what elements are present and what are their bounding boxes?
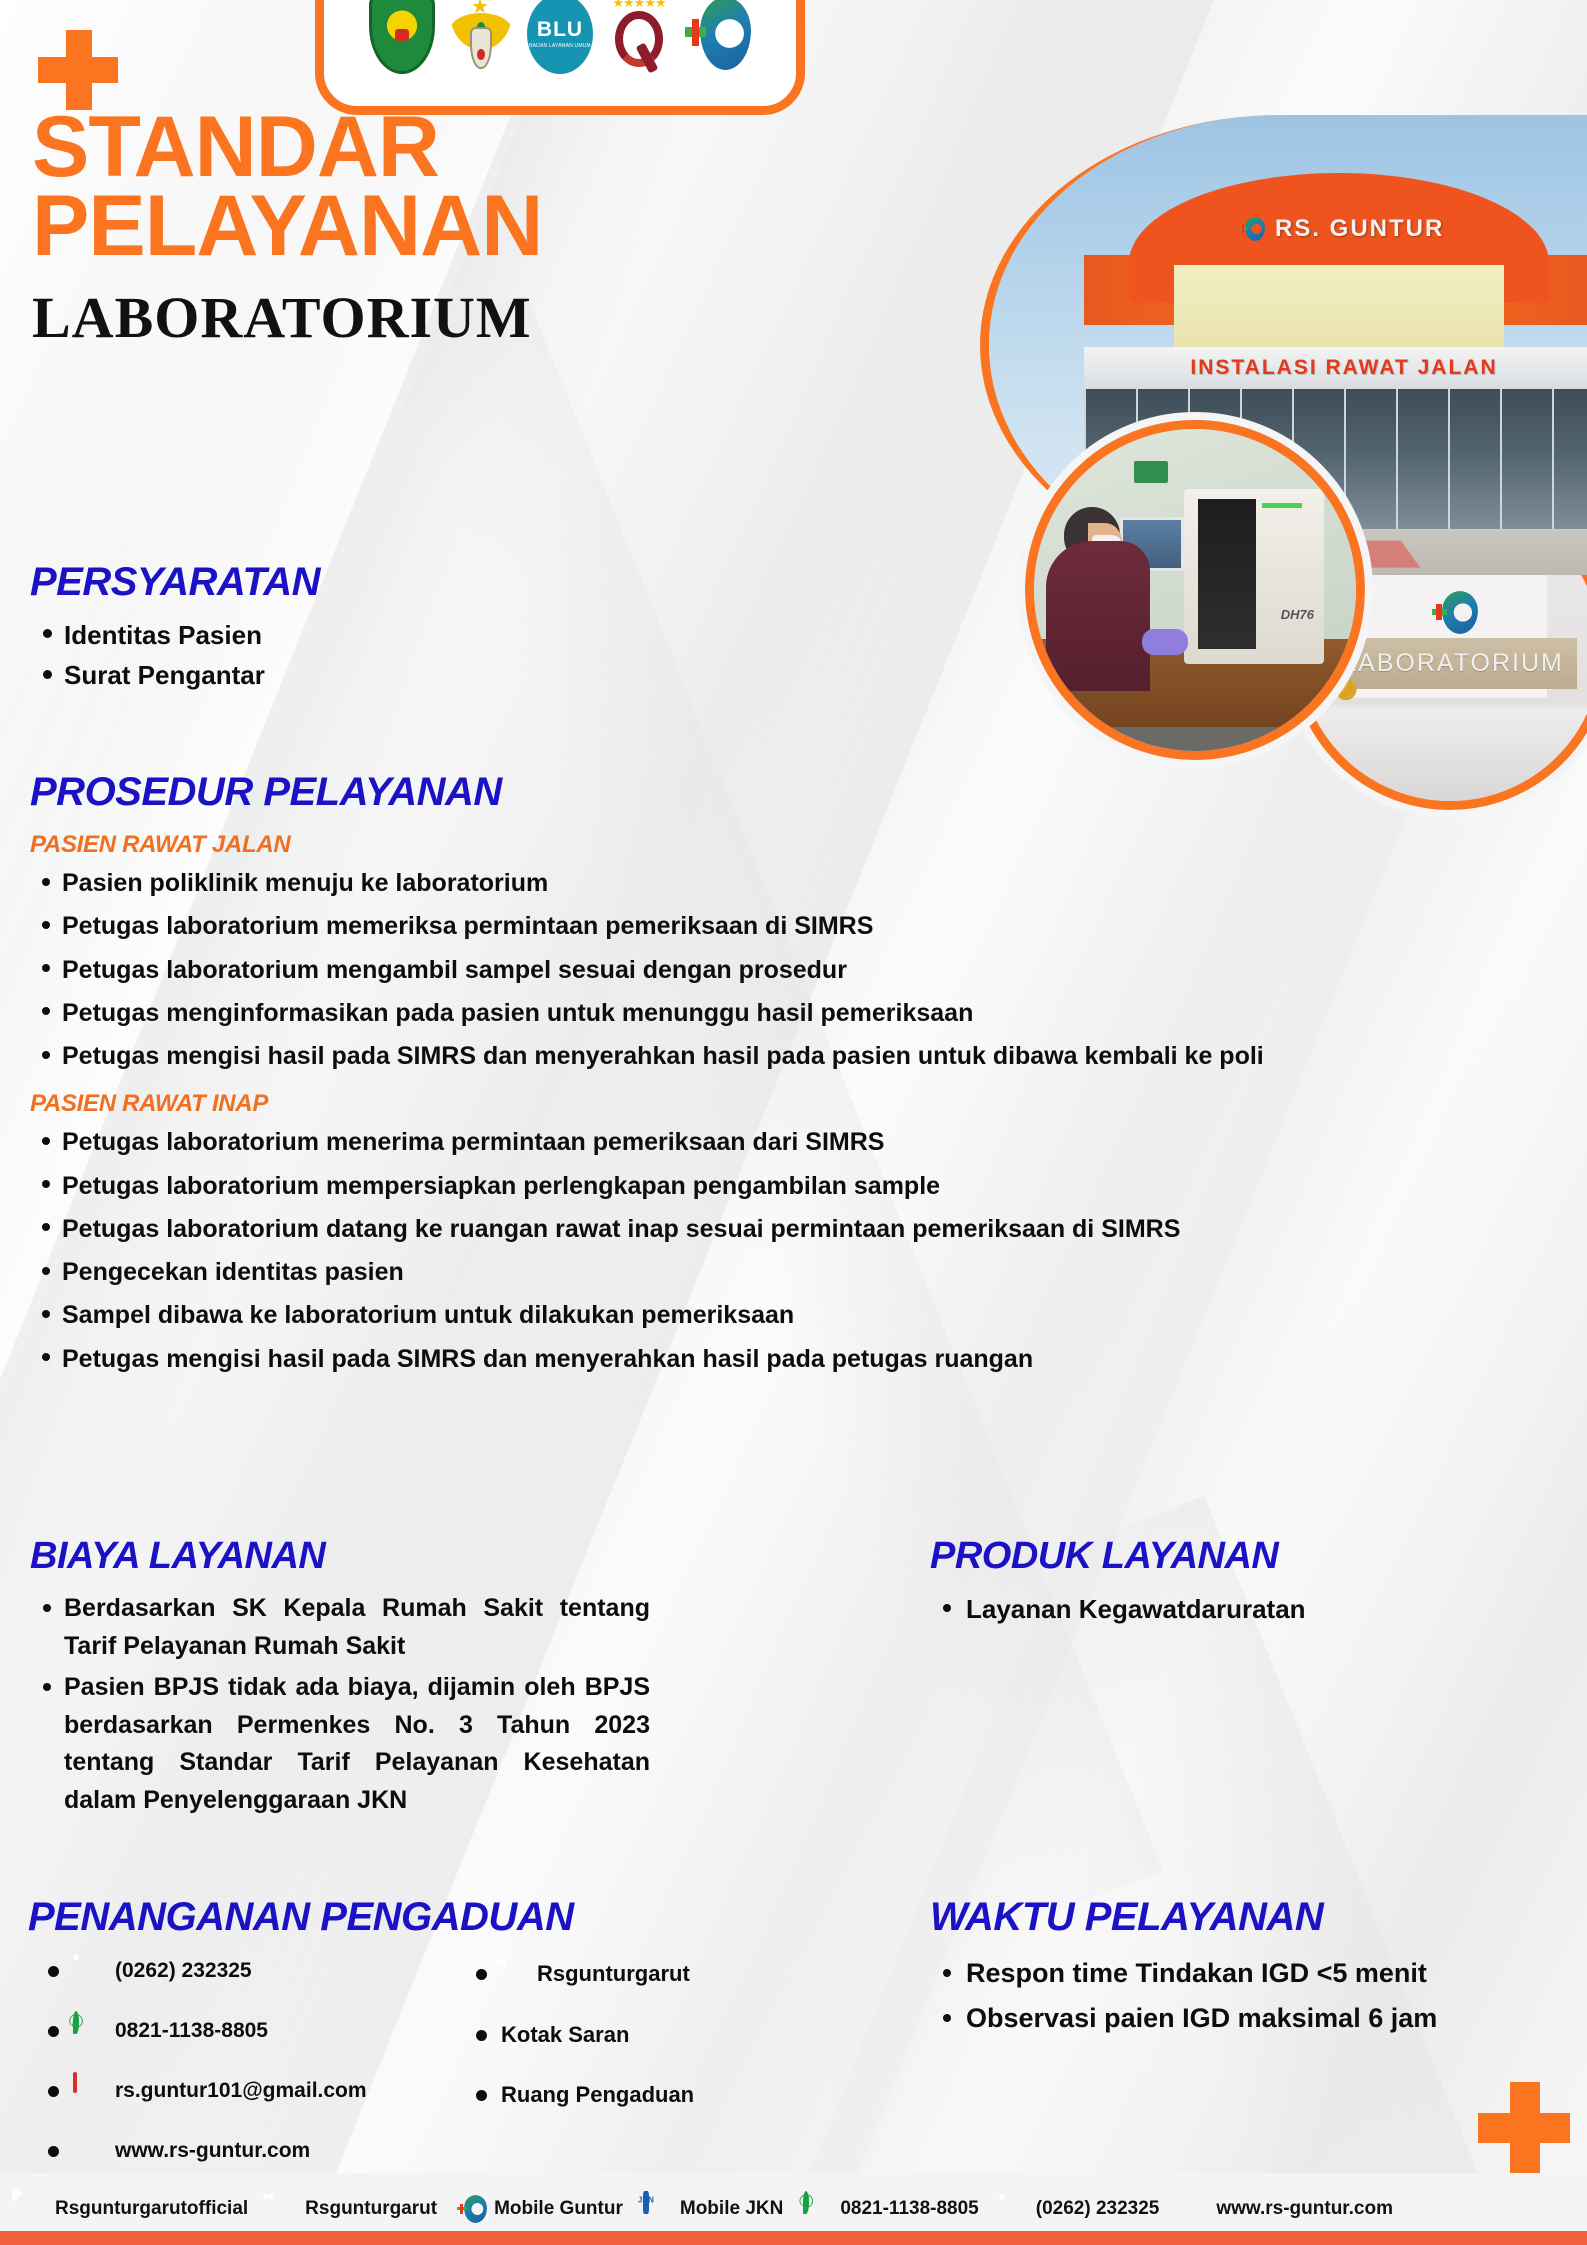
subject-title: LABORATORIUM (32, 284, 542, 351)
pengaduan-contact-column-right: Rsgunturgarut Kotak Saran Ruang Pengadua… (470, 1954, 870, 2168)
list-item: Petugas mengisi hasil pada SIMRS dan men… (30, 1038, 1520, 1074)
telephone-icon (73, 1954, 107, 1988)
list-item: Petugas laboratorium datang ke ruangan r… (30, 1211, 1530, 1247)
guntur-logo-icon (457, 2194, 487, 2224)
list-item: Petugas mengisi hasil pada SIMRS dan men… (30, 1341, 1530, 1377)
section-persyaratan: PERSYARATAN Identitas Pasien Surat Penga… (30, 560, 670, 696)
bullet-dot (476, 2030, 487, 2041)
footer-mobile-guntur[interactable]: Mobile Guntur (457, 2194, 623, 2224)
whatsapp-icon (803, 2194, 833, 2224)
section-produk-layanan: PRODUK LAYANAN Layanan Kegawatdaruratan (930, 1535, 1530, 1629)
bullet-dot (48, 2146, 59, 2157)
section-penanganan-pengaduan: PENANGANAN PENGADUAN (0262) 232325 0821-… (28, 1895, 928, 2168)
footer-mobile-guntur-text: Mobile Guntur (494, 2198, 623, 2220)
footer-instagram-text: Rsgunturgarut (305, 2198, 437, 2220)
prosedur-heading: PROSEDUR PELAYANAN (30, 770, 1560, 815)
waktu-heading: WAKTU PELAYANAN (930, 1895, 1540, 1940)
produk-list: Layanan Kegawatdaruratan (930, 1590, 1530, 1629)
biaya-heading: BIAYA LAYANAN (30, 1535, 650, 1578)
cross-bar-horizontal (1478, 2113, 1570, 2143)
contact-instagram[interactable]: Rsgunturgarut (476, 1960, 870, 1988)
telephone-icon (999, 2194, 1029, 2224)
poster-canvas: BLU BADAN LAYANAN UMUM ★★★★★ STANDAR (0, 0, 1587, 2245)
list-item: Identitas Pasien (30, 615, 670, 655)
building-sign-text: RS. GUNTUR (1275, 215, 1444, 243)
mobile-jkn-icon (643, 2194, 673, 2224)
medical-cross-icon (38, 30, 118, 110)
prosedur-rawat-jalan-list: Pasien poliklinik menuju ke laboratorium… (30, 865, 1520, 1074)
contact-telephone-text: (0262) 232325 (115, 1959, 252, 1983)
institution-logo-strip: BLU BADAN LAYANAN UMUM ★★★★★ (315, 0, 805, 115)
contact-whatsapp[interactable]: 0821-1138-8805 (48, 2014, 448, 2048)
bullet-dot (48, 2026, 59, 2037)
footer-website-text: www.rs-guntur.com (1216, 2198, 1393, 2220)
blu-logo-sublabel: BADAN LAYANAN UMUM (529, 43, 591, 49)
instagram-icon (268, 2194, 298, 2224)
cross-bar-horizontal (38, 57, 118, 83)
list-item: Layanan Kegawatdaruratan (930, 1590, 1530, 1629)
pengaduan-contact-column-left: (0262) 232325 0821-1138-8805 rs.guntur10… (28, 1954, 448, 2168)
prosedur-rawat-inap-list: Petugas laboratorium menerima permintaan… (30, 1124, 1530, 1377)
list-item: Petugas laboratorium memeriksa permintaa… (30, 908, 1520, 944)
footer-whatsapp[interactable]: 0821-1138-8805 (803, 2194, 978, 2224)
contact-kotak-saran: Kotak Saran (476, 2022, 870, 2048)
gmail-icon (73, 2074, 107, 2108)
title-line-1: STANDAR (32, 108, 542, 187)
contact-email-text: rs.guntur101@gmail.com (115, 2079, 367, 2103)
bullet-dot (48, 1966, 59, 1977)
list-item: Petugas menginformasikan pada pasien unt… (30, 995, 1520, 1031)
list-item: Respon time Tindakan IGD <5 menit (930, 1954, 1540, 1993)
list-item: Observasi paien IGD maksimal 6 jam (930, 1999, 1540, 2038)
contact-instagram-text: Rsgunturgarut (537, 1961, 690, 1987)
list-item: Pengecekan identitas pasien (30, 1254, 1530, 1290)
globe-icon (73, 2134, 107, 2168)
contact-whatsapp-text: 0821-1138-8805 (115, 2019, 268, 2043)
contact-website[interactable]: www.rs-guntur.com (48, 2134, 448, 2168)
contact-website-text: www.rs-guntur.com (115, 2139, 310, 2163)
contact-ruang-pengaduan-text: Ruang Pengaduan (501, 2082, 694, 2108)
list-item: Pasien poliklinik menuju ke laboratorium (30, 865, 1520, 901)
list-item: Petugas laboratorium mengambil sampel se… (30, 952, 1520, 988)
persyaratan-heading: PERSYARATAN (30, 560, 670, 605)
section-waktu-pelayanan: WAKTU PELAYANAN Respon time Tindakan IGD… (930, 1895, 1540, 2044)
list-item: Petugas laboratorium menerima permintaan… (30, 1124, 1530, 1160)
waktu-list: Respon time Tindakan IGD <5 menit Observ… (930, 1954, 1540, 2038)
list-item: Berdasarkan SK Kepala Rumah Sakit tentan… (30, 1590, 650, 1665)
list-item: Surat Pengantar (30, 655, 670, 695)
list-item: Petugas laboratorium mempersiapkan perle… (30, 1168, 1530, 1204)
footer-mobile-jkn[interactable]: Mobile JKN (643, 2194, 783, 2224)
footer-youtube-text: Rsgunturgarutofficial (55, 2198, 248, 2220)
bullet-dot (48, 2086, 59, 2097)
page-title: STANDAR PELAYANAN LABORATORIUM (32, 108, 542, 351)
footer-telephone-text: (0262) 232325 (1036, 2198, 1160, 2220)
footer-mobile-jkn-text: Mobile JKN (680, 2198, 783, 2220)
akreditasi-logo: ★★★★★ (606, 0, 672, 74)
footer-instagram[interactable]: Rsgunturgarut (268, 2194, 437, 2224)
list-item: Sampel dibawa ke laboratorium untuk dila… (30, 1297, 1530, 1333)
section-prosedur-pelayanan: PROSEDUR PELAYANAN PASIEN RAWAT JALAN Pa… (30, 770, 1560, 1384)
building-banner-text: INSTALASI RAWAT JALAN (1084, 347, 1587, 389)
bullet-dot (476, 1969, 487, 1980)
contact-telephone[interactable]: (0262) 232325 (48, 1954, 448, 1988)
whatsapp-icon (73, 2014, 107, 2048)
footer-youtube[interactable]: Rsgunturgarutofficial (18, 2194, 248, 2224)
siliwangi-logo (369, 0, 435, 74)
footer-whatsapp-text: 0821-1138-8805 (840, 2198, 978, 2220)
blu-logo-label: BLU (537, 19, 583, 40)
building-sign: RS. GUNTUR (1239, 215, 1444, 243)
footer-telephone[interactable]: (0262) 232325 (999, 2194, 1160, 2224)
prosedur-rawat-inap-subheading: PASIEN RAWAT INAP (30, 1090, 1560, 1118)
lab-technician-photo: DH76 (1025, 420, 1365, 760)
section-biaya-layanan: BIAYA LAYANAN Berdasarkan SK Kepala Ruma… (30, 1535, 650, 1823)
title-line-2: PELAYANAN (32, 187, 542, 266)
bullet-dot (476, 2090, 487, 2101)
kesdam-logo (448, 0, 514, 74)
list-item: Pasien BPJS tidak ada biaya, dijamin ole… (30, 1669, 650, 1819)
youtube-icon (18, 2194, 48, 2224)
laboratorium-sign-text: LABORATORIUM (1329, 638, 1577, 689)
persyaratan-list: Identitas Pasien Surat Pengantar (30, 615, 670, 696)
footer-website[interactable]: www.rs-guntur.com (1179, 2194, 1393, 2224)
blu-logo: BLU BADAN LAYANAN UMUM (527, 0, 593, 74)
rs-guntur-logo (685, 0, 751, 74)
contact-kotak-saran-text: Kotak Saran (501, 2022, 629, 2048)
prosedur-rawat-jalan-subheading: PASIEN RAWAT JALAN (30, 831, 1560, 859)
medical-cross-icon-bottom (1478, 2082, 1570, 2174)
pengaduan-heading: PENANGANAN PENGADUAN (28, 1895, 928, 1940)
biaya-list: Berdasarkan SK Kepala Rumah Sakit tentan… (30, 1590, 650, 1819)
analyzer-model-label: DH76 (1281, 607, 1314, 622)
footer-contact-bar: Rsgunturgarutofficial Rsgunturgarut Mobi… (0, 2173, 1587, 2245)
globe-icon (1179, 2194, 1209, 2224)
instagram-icon (501, 1960, 529, 1988)
contact-email[interactable]: rs.guntur101@gmail.com (48, 2074, 448, 2108)
produk-heading: PRODUK LAYANAN (930, 1535, 1530, 1578)
contact-ruang-pengaduan: Ruang Pengaduan (476, 2082, 870, 2108)
